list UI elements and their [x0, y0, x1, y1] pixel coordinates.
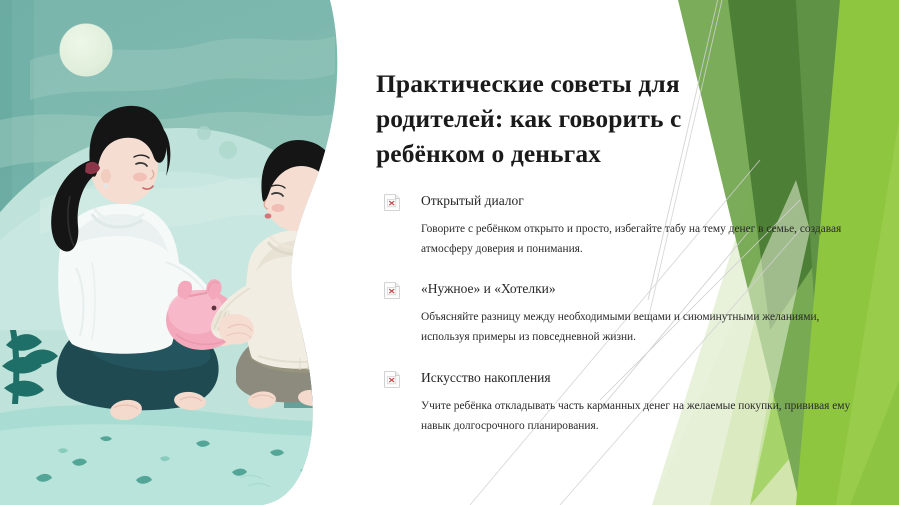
presentation-slide: Практические советы дляродителей: как го… — [0, 0, 899, 505]
broken-image-placeholder-icon — [384, 194, 401, 211]
tip-heading-row: «Нужное» и «Хотелки» — [384, 280, 862, 299]
tip-body: Учите ребёнка откладывать часть карманны… — [421, 396, 853, 436]
page-title-line-2: родителей: как говорить с — [376, 104, 681, 133]
tip-heading-row: Искусство накопления — [384, 369, 862, 388]
mother-and-child-with-piggy-bank-illustration — [0, 0, 360, 505]
tip-heading: Искусство накопления — [421, 369, 551, 386]
tip-body: Говорите с ребёнком открыто и просто, из… — [421, 219, 853, 259]
slide-content: Практические советы дляродителей: как го… — [376, 0, 876, 505]
tip-body: Объясняйте разницу между необходимыми ве… — [421, 307, 853, 347]
tip-section: Открытый диалог Говорите с ребёнком откр… — [384, 192, 862, 259]
tip-heading: «Нужное» и «Хотелки» — [421, 280, 556, 297]
tip-section: «Нужное» и «Хотелки» Объясняйте разницу … — [384, 280, 862, 347]
tip-heading: Открытый диалог — [421, 192, 524, 209]
tip-section: Искусство накопления Учите ребёнка откла… — [384, 369, 862, 436]
broken-image-placeholder-icon — [384, 371, 401, 388]
page-title-line-3: ребёнком о деньгах — [376, 139, 601, 168]
page-title: Практические советы дляродителей: как го… — [376, 66, 766, 171]
tip-heading-row: Открытый диалог — [384, 192, 862, 211]
page-title-line-1: Практические советы для — [376, 69, 680, 98]
broken-image-placeholder-icon — [384, 282, 401, 299]
